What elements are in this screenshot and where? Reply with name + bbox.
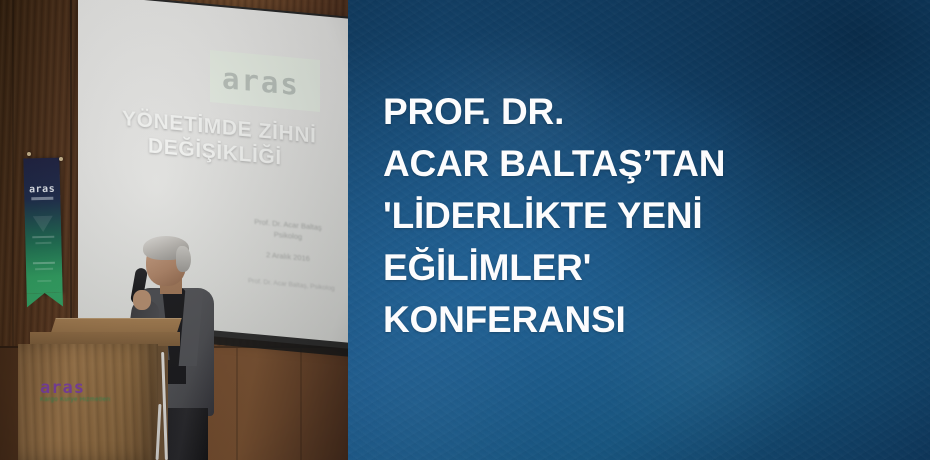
aras-logo-podium-subtitle: Kargo Kurye Hizmetleri xyxy=(40,397,111,403)
wall-seam xyxy=(236,348,238,460)
headline-panel: PROF. DR. ACAR BALTAŞ’TAN 'LİDERLİKTE YE… xyxy=(348,0,930,460)
banner-triangle-graphic xyxy=(33,216,53,232)
headline-line-4: EĞİLİMLER' xyxy=(383,242,918,294)
conference-photo: aras YÖNETİMDE ZİHNİ DEĞİŞİKLİĞİ Prof. D… xyxy=(0,0,348,460)
banner-nail xyxy=(59,157,63,161)
banner-nail xyxy=(27,152,31,156)
aras-logo-banner: aras xyxy=(28,184,56,196)
speaker-hand xyxy=(133,290,151,310)
news-card: aras YÖNETİMDE ZİHNİ DEĞİŞİKLİĞİ Prof. D… xyxy=(0,0,930,460)
banner-text-line xyxy=(37,280,51,282)
speaker-hair-back xyxy=(176,246,191,272)
aras-logo-podium: aras xyxy=(40,378,85,398)
headline-line-3: 'LİDERLİKTE YENİ xyxy=(383,190,918,242)
headline-line-1: PROF. DR. xyxy=(383,86,918,138)
banner-tail xyxy=(27,293,63,308)
aras-logo-slide: aras xyxy=(222,61,300,102)
headline-text: PROF. DR. ACAR BALTAŞ’TAN 'LİDERLİKTE YE… xyxy=(383,86,918,346)
slide-presenter-block: Prof. Dr. Acar Baltaş Psikolog 2 Aralık … xyxy=(198,211,348,270)
headline-line-5: KONFERANSI xyxy=(383,294,918,346)
banner-logo-underline xyxy=(31,197,53,201)
banner-text-line xyxy=(35,268,53,270)
hanging-banner: aras xyxy=(23,158,62,294)
slide-title: YÖNETİMDE ZİHNİ DEĞİŞİKLİĞİ xyxy=(122,106,348,179)
banner-text-line xyxy=(35,242,51,244)
slide-date: 2 Aralık 2016 xyxy=(198,243,348,270)
headline-line-2: ACAR BALTAŞ’TAN xyxy=(383,138,918,190)
wall-seam xyxy=(300,348,302,460)
slide-footer: Prof. Dr. Acar Baltaş, Psikolog xyxy=(248,277,348,299)
